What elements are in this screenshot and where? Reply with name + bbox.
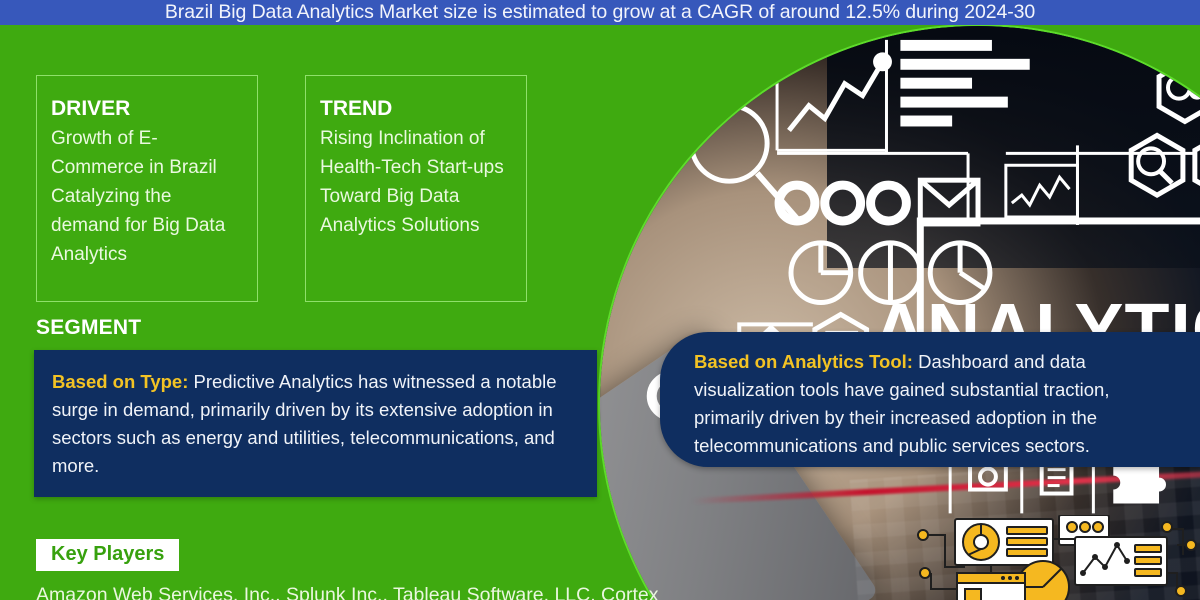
- segment-by-tool-card: Based on Analytics Tool: Dashboard and d…: [660, 332, 1200, 467]
- driver-card: DRIVER Growth of E-Commerce in Brazil Ca…: [36, 75, 258, 302]
- header-bar: Brazil Big Data Analytics Market size is…: [0, 0, 1200, 25]
- analytics-icon-overlay: ANALYTICS: [600, 26, 1200, 600]
- segment-by-type-card: Based on Type: Predictive Analytics has …: [34, 350, 597, 497]
- hero-image-circle: ANALYTICS: [598, 24, 1200, 600]
- waveform-icon: [1006, 165, 1078, 217]
- bar-chart-icon: [900, 40, 1029, 127]
- segment-by-tool-label: Based on Analytics Tool:: [694, 351, 913, 372]
- segment-by-type-text: Based on Type: Predictive Analytics has …: [52, 368, 581, 480]
- key-players-badge-label: Key Players: [51, 543, 164, 565]
- key-players-badge: Key Players: [36, 539, 179, 571]
- trend-text: Rising Inclination of Health-Tech Start-…: [320, 124, 512, 240]
- infographic-root: ANALYTICS Brazil Big Data Analytics Mark…: [0, 0, 1200, 600]
- segment-by-type-label: Based on Type:: [52, 371, 188, 392]
- driver-text: Growth of E-Commerce in Brazil Catalyzin…: [51, 124, 243, 269]
- key-players-list: Amazon Web Services, Inc., Splunk Inc., …: [36, 581, 796, 600]
- trend-title: TREND: [320, 96, 512, 122]
- camera-icon: [970, 464, 1006, 490]
- analytics-dashboard-illustration: [915, 515, 1200, 600]
- segment-heading: SEGMENT: [36, 316, 141, 340]
- page-title: Brazil Big Data Analytics Market size is…: [0, 0, 1200, 25]
- segment-by-tool-text: Based on Analytics Tool: Dashboard and d…: [694, 348, 1178, 460]
- chat-bubble-icon: [1168, 77, 1200, 100]
- line-chart-icon: [777, 50, 889, 150]
- trend-card: TREND Rising Inclination of Health-Tech …: [305, 75, 527, 302]
- driver-title: DRIVER: [51, 96, 243, 122]
